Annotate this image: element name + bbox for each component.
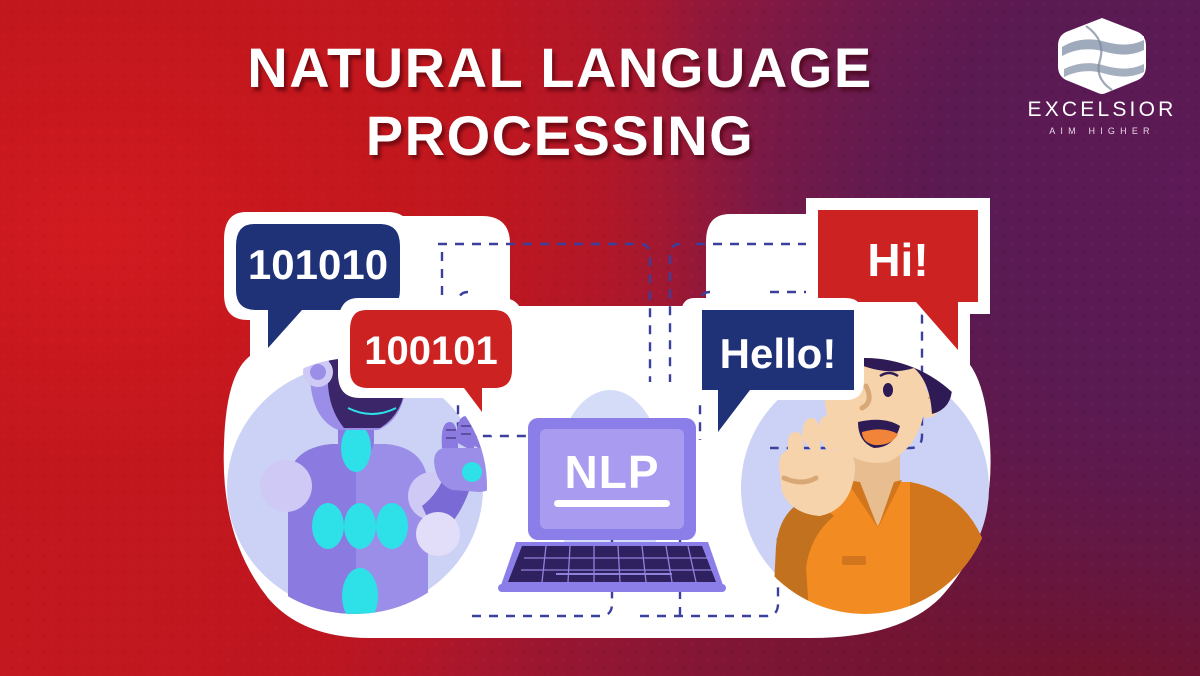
nlp-illustration: NLP — [210, 186, 1010, 656]
brand-logo: EXCELSIOR AIM HIGHER — [1018, 16, 1186, 136]
bubble-text-100101: 100101 — [364, 329, 497, 373]
bubble-text-hello: Hello! — [720, 330, 837, 377]
brand-name: EXCELSIOR — [1018, 98, 1186, 122]
bubble-text-101010: 101010 — [248, 241, 388, 288]
page-title-line-2: PROCESSING — [160, 102, 960, 170]
bubble-text-hi: Hi! — [867, 234, 928, 286]
illustration-canvas: NLP — [210, 186, 1010, 656]
laptop: NLP — [498, 418, 726, 592]
brand-tagline: AIM HIGHER — [1018, 126, 1186, 136]
excelsior-hexagon-swoosh-logo-icon — [1056, 16, 1148, 96]
page-title: NATURAL LANGUAGE PROCESSING — [160, 34, 960, 170]
page-title-line-1: NATURAL LANGUAGE — [160, 34, 960, 102]
laptop-screen-text: NLP — [565, 446, 660, 498]
